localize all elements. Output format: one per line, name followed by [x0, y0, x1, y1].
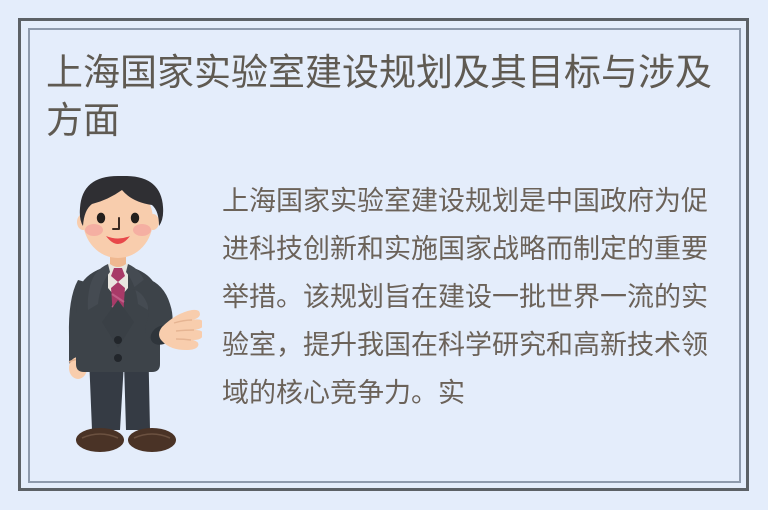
blush-right [133, 224, 151, 236]
page-canvas: 上海国家实验室建设规划及其目标与涉及方面 上海国家实验室建设规划是中国政府为促进… [0, 0, 768, 510]
eye-right [131, 213, 139, 224]
page-title: 上海国家实验室建设规划及其目标与涉及方面 [46, 49, 722, 145]
shoe-right [128, 428, 176, 452]
jacket-button-bottom [114, 354, 122, 362]
blush-left [85, 224, 103, 236]
shoe-left [76, 428, 124, 452]
businessman-illustration [52, 172, 202, 477]
eye-left [97, 213, 105, 224]
jacket-button-top [114, 336, 122, 344]
article-body-text: 上海国家实验室建设规划是中国政府为促进科技创新和实施国家战略而制定的重要举措。该… [222, 177, 727, 417]
